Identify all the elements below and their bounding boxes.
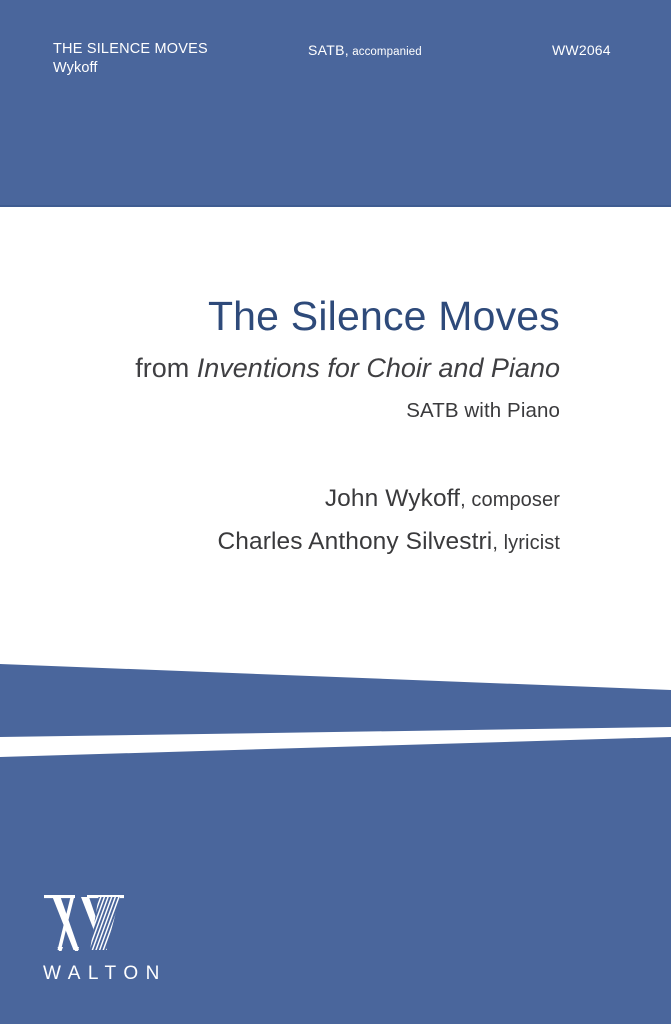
from-label: from (135, 353, 197, 383)
header-info-row: THE SILENCE MOVES Wykoff SATB, accompani… (0, 40, 671, 90)
header-voicing-main: SATB, (308, 42, 349, 58)
sheet-music-cover: THE SILENCE MOVES Wykoff SATB, accompani… (0, 0, 671, 1024)
credit-composer: John Wykoff, composer (0, 487, 560, 512)
header-catalog-number: WW2064 (552, 42, 611, 58)
collection-subtitle: from Inventions for Choir and Piano (0, 355, 560, 382)
credits-block: John Wykoff, composer Charles Anthony Si… (0, 487, 671, 554)
composer-name: John Wykoff (325, 485, 460, 512)
credit-lyricist: Charles Anthony Silvestri, lyricist (0, 530, 560, 555)
walton-w-icon (40, 893, 128, 955)
collection-title: Inventions for Choir and Piano (197, 353, 560, 383)
title-block: The Silence Moves from Inventions for Ch… (0, 296, 671, 422)
voicing-line: SATB with Piano (0, 401, 560, 422)
lyricist-name: Charles Anthony Silvestri (217, 528, 492, 555)
publisher-logo: WALTON (40, 893, 190, 983)
lyricist-role: , lyricist (492, 532, 560, 554)
header-work-title: THE SILENCE MOVES (53, 40, 208, 59)
page-title: The Silence Moves (0, 296, 560, 337)
header-voicing: SATB, accompanied (308, 42, 422, 60)
header-left-group: THE SILENCE MOVES Wykoff (53, 40, 208, 77)
composer-role: , composer (460, 489, 560, 511)
header-band (0, 0, 671, 207)
upper-wedge (0, 664, 671, 737)
header-voicing-detail: accompanied (349, 46, 422, 58)
walton-wordmark: WALTON (43, 964, 190, 983)
header-composer-surname: Wykoff (53, 59, 208, 78)
